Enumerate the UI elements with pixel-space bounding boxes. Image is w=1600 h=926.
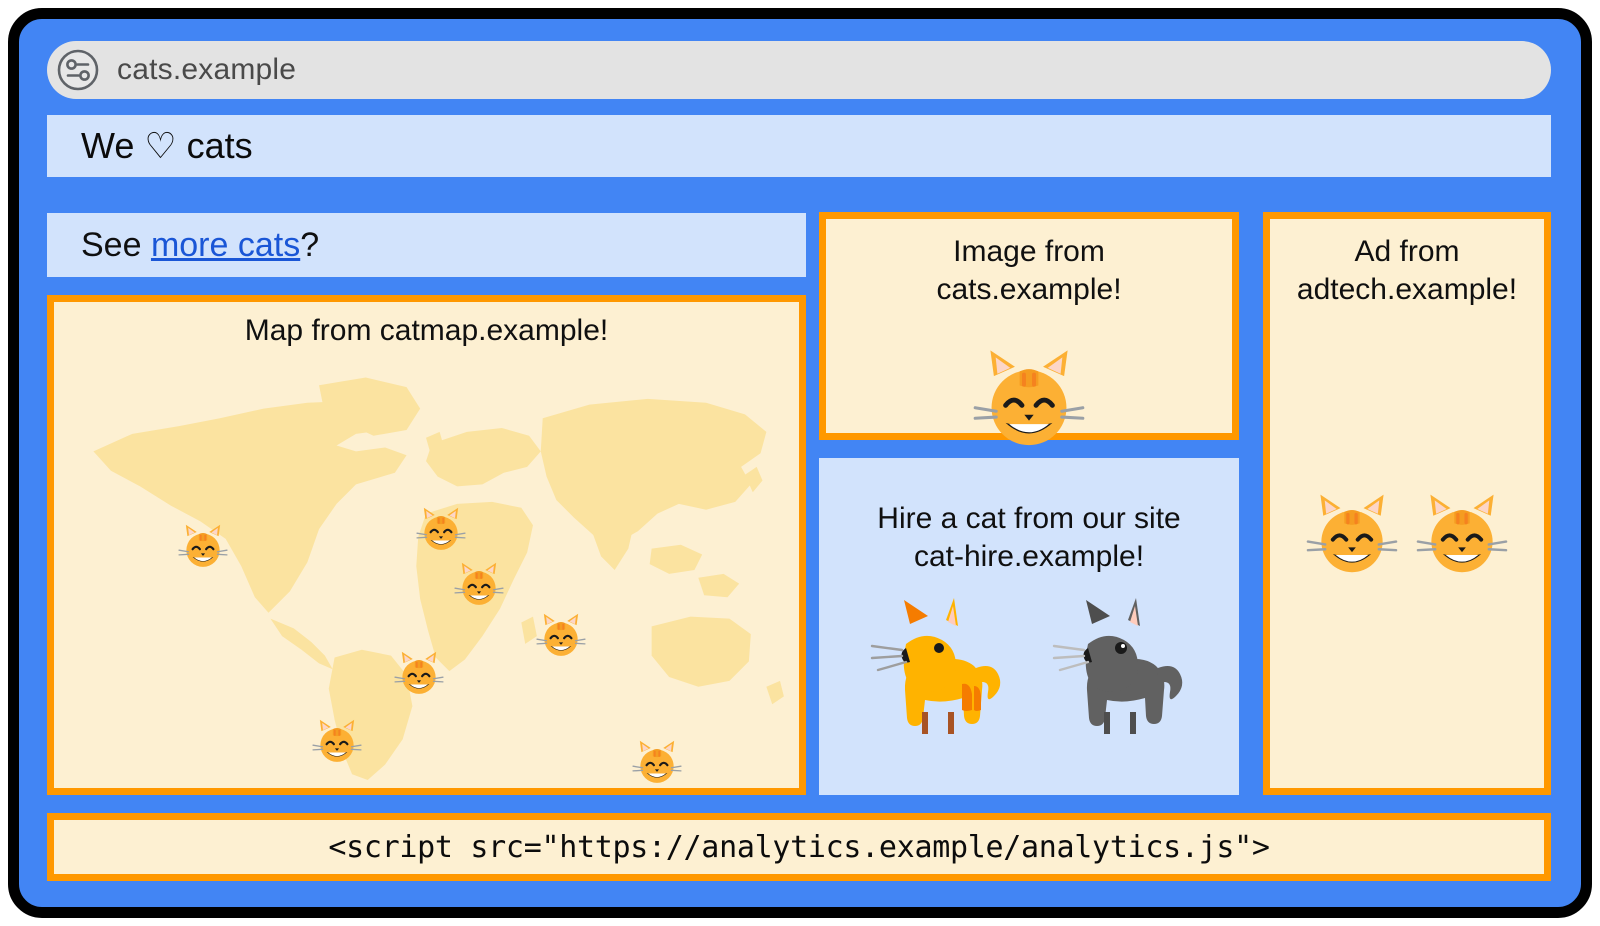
map-panel-heading: Map from catmap.example! bbox=[54, 312, 799, 350]
tune-settings-icon[interactable] bbox=[55, 47, 101, 93]
analytics-script-panel: <script src="https://analytics.example/a… bbox=[47, 813, 1551, 881]
ad-cat-illustrations bbox=[1270, 487, 1544, 577]
more-cats-link[interactable]: more cats bbox=[151, 226, 300, 264]
analytics-script-text: <script src="https://analytics.example/a… bbox=[328, 830, 1269, 865]
marker-north-atlantic[interactable] bbox=[415, 502, 467, 554]
address-bar-url[interactable]: cats.example bbox=[117, 53, 296, 87]
image-panel-heading-line1: Image from bbox=[826, 233, 1232, 271]
image-panel: Image from cats.example! bbox=[819, 212, 1239, 440]
cat-face-icon bbox=[1304, 487, 1400, 577]
marker-africa[interactable] bbox=[393, 646, 445, 698]
hire-panel: Hire a cat from our site cat-hire.exampl… bbox=[819, 458, 1239, 795]
marker-south-asia[interactable] bbox=[535, 608, 587, 660]
marker-north-america[interactable] bbox=[177, 519, 229, 571]
orange-cat-icon bbox=[858, 586, 1018, 746]
ad-panel-heading-line2: adtech.example! bbox=[1270, 271, 1544, 309]
cat-face-icon bbox=[1414, 487, 1510, 577]
see-more-prefix: See bbox=[81, 226, 151, 264]
see-more-cats-panel: See more cats? bbox=[47, 213, 806, 277]
grey-cat-icon bbox=[1040, 586, 1200, 746]
hire-panel-heading-line2: cat-hire.example! bbox=[819, 538, 1239, 576]
hire-panel-heading-line1: Hire a cat from our site bbox=[819, 500, 1239, 538]
see-more-suffix: ? bbox=[300, 226, 319, 264]
world-map[interactable] bbox=[54, 358, 799, 782]
marker-europe[interactable] bbox=[453, 557, 505, 609]
site-banner-text: We ♡ cats bbox=[81, 125, 253, 167]
ad-panel-heading-line1: Ad from bbox=[1270, 233, 1544, 271]
image-panel-heading-line2: cats.example! bbox=[826, 271, 1232, 309]
cat-face-icon bbox=[970, 341, 1088, 451]
marker-australia[interactable] bbox=[631, 735, 683, 787]
world-map-landmass bbox=[54, 358, 799, 782]
browser-window: cats.example We ♡ cats See more cats? Ma… bbox=[8, 8, 1592, 918]
see-more-cats-text: See more cats? bbox=[81, 226, 319, 265]
hire-cat-illustrations bbox=[819, 586, 1239, 746]
site-banner: We ♡ cats bbox=[47, 115, 1551, 177]
ad-panel: Ad from adtech.example! bbox=[1263, 212, 1551, 795]
address-bar[interactable]: cats.example bbox=[47, 41, 1551, 99]
map-panel: Map from catmap.example! bbox=[47, 295, 806, 795]
marker-south-america[interactable] bbox=[311, 714, 363, 766]
